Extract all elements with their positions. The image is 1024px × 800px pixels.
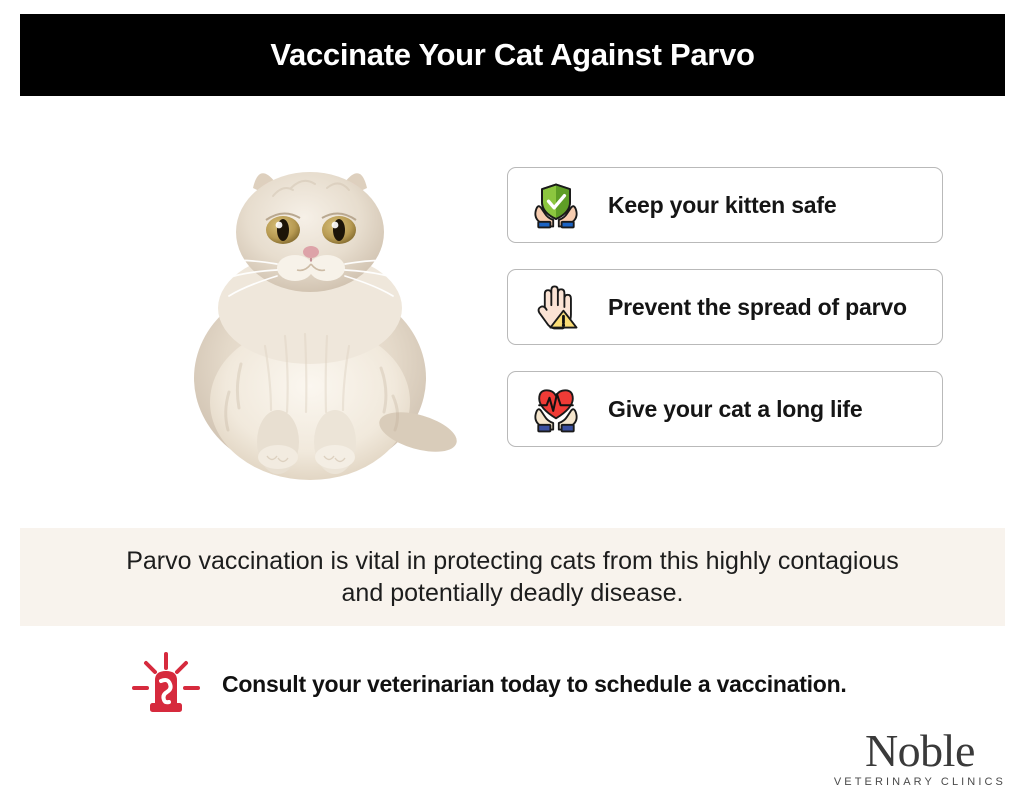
- page-title: Vaccinate Your Cat Against Parvo: [270, 37, 754, 73]
- benefit-card-prevent-spread[interactable]: Prevent the spread of parvo: [507, 269, 943, 345]
- header-banner: Vaccinate Your Cat Against Parvo: [20, 14, 1005, 96]
- benefit-label: Prevent the spread of parvo: [608, 294, 907, 321]
- description-band: Parvo vaccination is vital in protecting…: [20, 528, 1005, 626]
- benefit-label: Give your cat a long life: [608, 396, 862, 423]
- brand-logo: Noble VETERINARY CLINICS: [834, 728, 1006, 788]
- description-text: Parvo vaccination is vital in protecting…: [126, 545, 899, 609]
- logo-wordmark: Noble: [834, 728, 1006, 773]
- raised-hand-warning-icon: [526, 277, 586, 337]
- call-to-action-text: Consult your veterinarian today to sched…: [222, 671, 847, 698]
- hands-holding-heart-icon: [526, 379, 586, 439]
- cat-photo: [145, 140, 475, 480]
- hands-holding-shield-icon: [526, 175, 586, 235]
- benefit-card-long-life[interactable]: Give your cat a long life: [507, 371, 943, 447]
- call-to-action: Consult your veterinarian today to sched…: [130, 650, 847, 718]
- benefits-list: Keep your kitten safe Prevent the spread…: [507, 167, 943, 473]
- emergency-siren-phone-icon: [130, 650, 202, 718]
- benefit-card-keep-kitten-safe[interactable]: Keep your kitten safe: [507, 167, 943, 243]
- benefit-label: Keep your kitten safe: [608, 192, 836, 219]
- description-line-2: and potentially deadly disease.: [342, 579, 684, 607]
- description-line-1: Parvo vaccination is vital in protecting…: [126, 547, 899, 575]
- infographic-poster: Vaccinate Your Cat Against Parvo: [0, 0, 1024, 800]
- logo-tagline: VETERINARY CLINICS: [834, 776, 1006, 788]
